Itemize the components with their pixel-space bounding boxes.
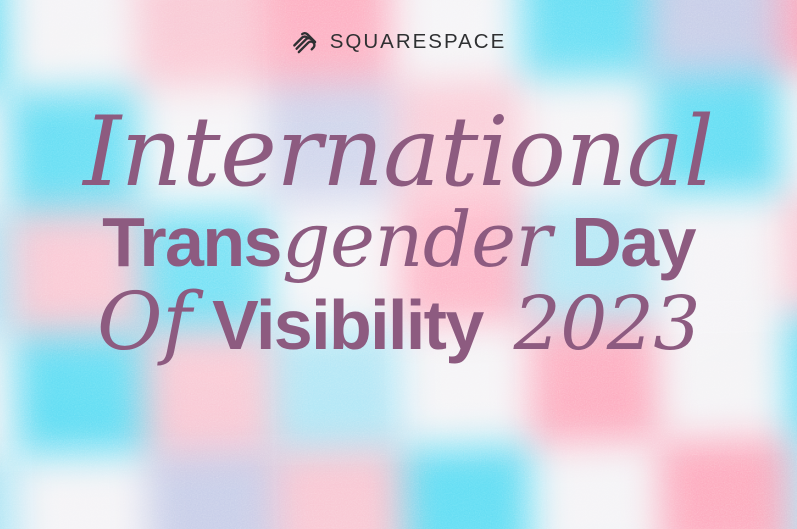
headline-year-2023: 2023 — [512, 281, 702, 367]
headline-word-visibility: Visibility — [212, 286, 483, 364]
squarespace-wordmark: SQUARESPACE — [330, 32, 507, 53]
squarespace-logo-lockup: SQUARESPACE — [0, 28, 797, 56]
poster-canvas: SQUARESPACE International Transgender Da… — [0, 0, 797, 529]
headline-line-1: International — [0, 104, 797, 200]
squarespace-logo-icon — [291, 28, 319, 56]
headline-word-trans: Trans — [102, 203, 281, 281]
headline-line-2: Transgender Day — [0, 202, 797, 278]
headline-word-gender: gender — [281, 195, 553, 284]
poster-content: SQUARESPACE International Transgender Da… — [0, 0, 797, 529]
headline-line-3: Of Visibility 2023 — [0, 282, 797, 362]
headline-word-day: Day — [571, 203, 695, 281]
headline-word-international: International — [83, 96, 713, 208]
headline-word-of: Of — [95, 275, 193, 368]
headline-block: International Transgender Day Of Visibil… — [0, 104, 797, 362]
